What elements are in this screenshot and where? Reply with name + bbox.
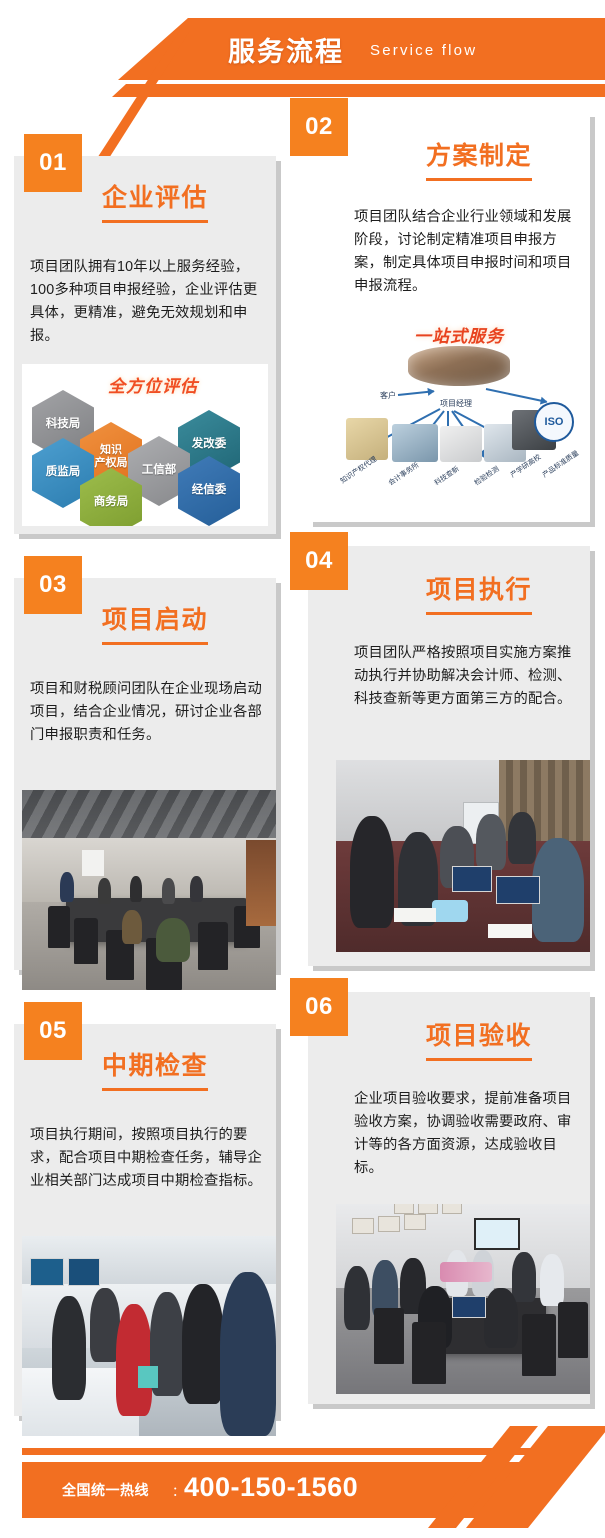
photo-laptop [496, 876, 540, 904]
card-title-text: 项目启动 [102, 606, 208, 634]
card-title: 企业评估 [102, 178, 208, 223]
card-title: 项目执行 [426, 570, 532, 615]
photo-person [540, 1254, 564, 1306]
service-node-caption: 检验检测 [472, 464, 501, 488]
step-card-04: 04 项目执行 项目团队严格按照项目实施方案推动执行并协助解决会计师、检测、科技… [308, 546, 590, 966]
photo-site-visit [22, 1236, 276, 1436]
photo-person [508, 812, 536, 864]
step-card-06: 06 项目验收 企业项目验收要求，提前准备项目验收方案，协调验收需要政府、审计等… [308, 992, 590, 1404]
card-title-text: 方案制定 [426, 142, 532, 170]
iso-certification-badge: ISO [534, 402, 574, 442]
card-title-text: 企业评估 [102, 184, 208, 212]
photo-laptop [452, 1296, 486, 1318]
photo-working-meeting [336, 760, 590, 952]
hotline-phone-number[interactable]: 400-150-1560 [184, 1472, 358, 1503]
photo-brochure [138, 1366, 158, 1388]
photo-person [344, 1266, 370, 1330]
flow-arrow-icon [398, 390, 434, 396]
photo-person [60, 872, 74, 902]
step-number-badge: 01 [24, 134, 82, 192]
photo-chair [412, 1322, 446, 1384]
photo-wall-frame [352, 1218, 374, 1234]
card-title: 方案制定 [426, 136, 532, 181]
photo-paper [488, 924, 532, 938]
photo-wall-frame [394, 1204, 414, 1214]
photo-wall-frame [378, 1216, 400, 1232]
card-title: 项目启动 [102, 600, 208, 645]
photo-person [476, 814, 506, 870]
photo-person [182, 1284, 224, 1404]
card-title-text: 项目验收 [426, 1022, 532, 1050]
step-number-badge: 03 [24, 556, 82, 614]
photo-boardroom [336, 1204, 590, 1394]
title-underline [426, 612, 532, 615]
step-card-05: 05 中期检查 项目执行期间，按照项目执行的要求，配合项目中期检查任务，辅导企业… [14, 1024, 276, 1416]
step-card-03: 03 项目启动 项目和财税顾问团队在企业现场启动项目，结合企业情况，研讨企业各部… [14, 578, 276, 970]
photo-person [52, 1296, 86, 1400]
card-body-text: 项目团队结合企业行业领域和发展阶段，讨论制定精准项目申报方案，制定具体项目申报时… [354, 206, 574, 299]
card-body-text: 项目执行期间，按照项目执行的要求，配合项目中期检查任务，辅导企业相关部门达成项目… [30, 1124, 262, 1193]
title-underline [426, 1058, 532, 1061]
photo-conference-room [22, 790, 276, 990]
hexagon-diagram: 全方位评估 科技局 知识 产权局 发改委 质监局 工信部 商务局 经信委 [22, 364, 268, 526]
photo-flowers [440, 1262, 492, 1282]
photo-chair [74, 918, 98, 964]
page-subtitle: Service flow [370, 42, 477, 59]
service-diagram-title: 一站式服务 [336, 322, 582, 347]
photo-person [350, 816, 394, 928]
photo-chair [374, 1308, 404, 1364]
step-card-01: 01 企业评估 项目团队拥有10年以上服务经验，100多种项目申报经验，企业评估… [14, 156, 276, 534]
photo-person [98, 878, 111, 904]
photo-chair [558, 1302, 588, 1358]
infographic-page: 服务流程 Service flow 01 企业评估 项目团队拥有10年以上服务经… [0, 0, 605, 1538]
flow-arrow-icon [486, 388, 547, 403]
photo-wall-frame [442, 1204, 462, 1214]
card-body-text: 项目团队严格按照项目实施方案推动执行并协助解决会计师、检测、科技查新等更方面第三… [354, 642, 574, 711]
photo-wood-panel [246, 840, 276, 926]
photo-person [484, 1288, 518, 1348]
photo-tv-screen [474, 1218, 520, 1250]
title-underline [102, 642, 208, 645]
card-title-text: 中期检查 [102, 1052, 208, 1080]
photo-chair [522, 1314, 556, 1376]
photo-wall-frame [418, 1204, 438, 1214]
hexagon-diagram-title: 全方位评估 [108, 372, 198, 397]
service-photo-node [440, 426, 482, 462]
service-node-label: 项目经理 [440, 398, 472, 409]
photo-display [68, 1258, 100, 1286]
card-body-text: 企业项目验收要求，提前准备项目验收方案，协调验收需要政府、审计等的各方面资源，达… [354, 1088, 574, 1181]
hotline-label: 全国统一热线 [62, 1480, 149, 1500]
card-body-text: 项目和财税顾问团队在企业现场启动项目，结合企业情况，研讨企业各部门申报职责和任务… [30, 678, 262, 747]
step-number-badge: 04 [290, 532, 348, 590]
card-title: 项目验收 [426, 1016, 532, 1061]
photo-person [122, 910, 142, 944]
photo-person [116, 1304, 152, 1416]
service-photo-node [392, 424, 438, 462]
photo-person [156, 918, 190, 962]
photo-person [512, 1252, 536, 1302]
photo-person [162, 878, 175, 904]
header-underline-stripe [0, 84, 605, 97]
one-stop-service-diagram: 一站式服务 客户 项目经理 ISO 知识产权代理 会计事务所 科技查新 检验检测… [336, 318, 582, 508]
photo-paper [394, 908, 436, 922]
card-title: 中期检查 [102, 1046, 208, 1091]
service-node-caption: 产品标准质量 [540, 448, 580, 480]
photo-person [190, 876, 203, 902]
title-underline [102, 220, 208, 223]
page-footer: 全国统一热线 ： 400-150-1560 [0, 1412, 605, 1538]
photo-whiteboard [82, 850, 104, 876]
photo-display [30, 1258, 64, 1286]
card-title-text: 项目执行 [426, 576, 532, 604]
card-body-text: 项目团队拥有10年以上服务经验，100多种项目申报经验，企业评估更具体，更精准，… [30, 256, 262, 349]
photo-chair [48, 906, 70, 948]
service-node-label: 客户 [380, 390, 396, 401]
step-number-badge: 05 [24, 1002, 82, 1060]
service-photo-node [346, 418, 388, 460]
photo-laptop [452, 866, 492, 892]
title-underline [102, 1088, 208, 1091]
step-number-badge: 06 [290, 978, 348, 1036]
meeting-photo-thumb [408, 346, 510, 386]
photo-bag [432, 900, 468, 922]
step-card-02: 02 方案制定 项目团队结合企业行业领域和发展阶段，讨论制定精准项目申报方案，制… [308, 112, 590, 522]
step-number-badge: 02 [290, 98, 348, 156]
service-node-caption: 会计事务所 [386, 460, 421, 488]
photo-ceiling-pattern [22, 790, 276, 838]
service-node-caption: 科技查新 [432, 464, 461, 488]
photo-person [130, 876, 142, 902]
photo-wall-frame [404, 1214, 426, 1230]
title-underline [426, 178, 532, 181]
page-title: 服务流程 [228, 30, 344, 69]
photo-chair [198, 922, 228, 970]
